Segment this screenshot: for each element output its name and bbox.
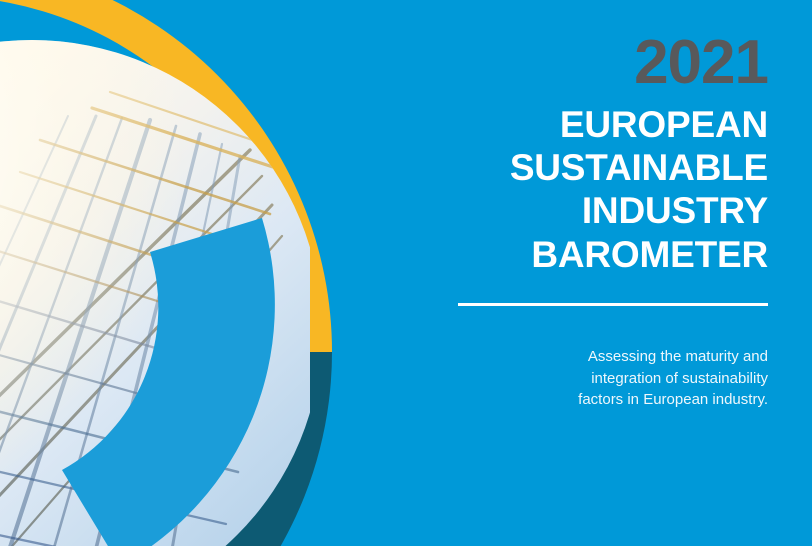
cover-subtitle: Assessing the maturity and integration o… [430, 306, 768, 411]
subtitle-line-3: factors in European industry. [430, 389, 768, 411]
subtitle-line-2: integration of sustainability [430, 368, 768, 390]
report-cover: 2021 EUROPEAN SUSTAINABLE INDUSTRY BAROM… [0, 0, 812, 546]
subtitle-line-1: Assessing the maturity and [430, 346, 768, 368]
cover-title: EUROPEAN SUSTAINABLE INDUSTRY BAROMETER [430, 94, 768, 276]
cover-artwork [0, 0, 440, 546]
cover-year: 2021 [430, 0, 768, 94]
title-line-3: INDUSTRY [430, 189, 768, 232]
title-line-2: SUSTAINABLE [430, 146, 768, 189]
title-line-4: BAROMETER [430, 233, 768, 276]
title-line-1: EUROPEAN [430, 103, 768, 146]
cover-text-block: 2021 EUROPEAN SUSTAINABLE INDUSTRY BAROM… [430, 0, 812, 546]
